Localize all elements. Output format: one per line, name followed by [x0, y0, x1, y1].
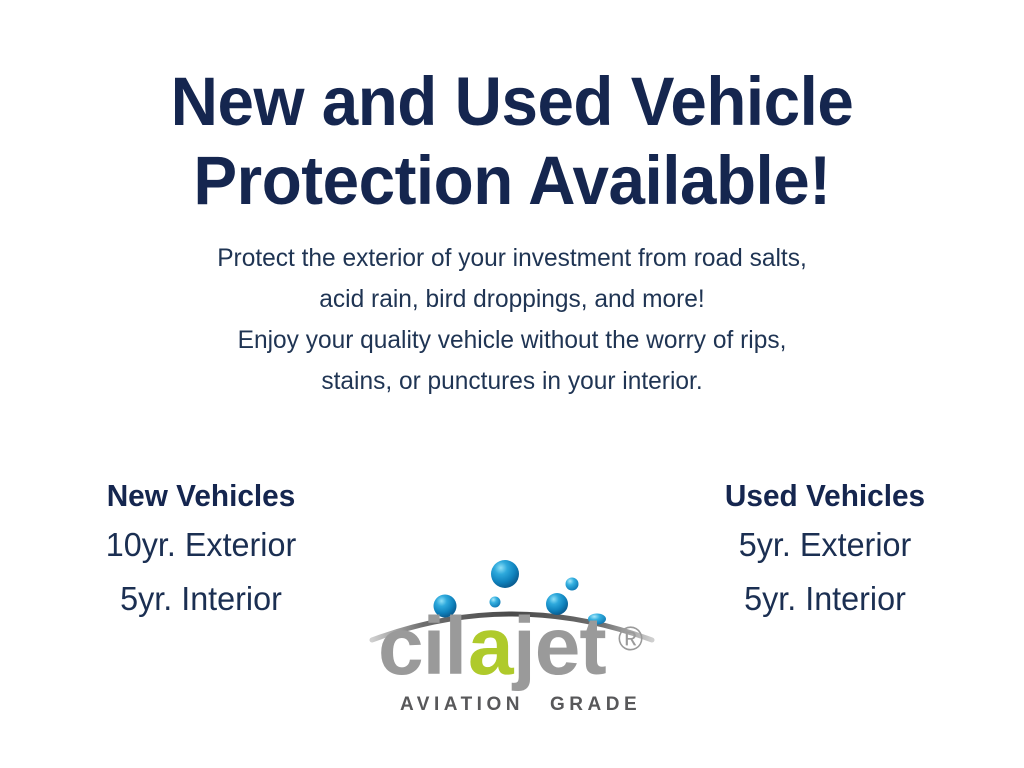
new-exterior-coverage: 10yr. Exterior — [39, 518, 362, 572]
logo-wordmark: cil a jet ® — [378, 601, 643, 692]
title-line-1: New and Used Vehicle — [26, 62, 999, 141]
registered-trademark-icon: ® — [618, 620, 643, 658]
body-copy: Protect the exterior of your investment … — [0, 238, 1024, 402]
logo-text-jet: jet — [511, 601, 606, 692]
column-heading-used: Used Vehicles — [667, 474, 984, 518]
new-interior-coverage: 5yr. Interior — [39, 572, 362, 626]
title-line-2: Protection Available! — [26, 141, 999, 220]
column-used-vehicles: Used Vehicles 5yr. Exterior 5yr. Interio… — [660, 474, 990, 626]
tagline-aviation: AVIATION — [400, 694, 524, 715]
page-title: New and Used Vehicle Protection Availabl… — [0, 62, 1024, 220]
column-new-vehicles: New Vehicles 10yr. Exterior 5yr. Interio… — [36, 474, 366, 626]
logo-tagline: AVIATION GRADE — [400, 694, 641, 715]
logo-text-cil: cil — [378, 601, 466, 692]
slide-canvas: New and Used Vehicle Protection Availabl… — [0, 0, 1024, 768]
tagline-grade: GRADE — [550, 694, 641, 715]
body-line-4: stains, or punctures in your interior. — [10, 361, 1014, 402]
body-line-2: acid rain, bird droppings, and more! — [10, 279, 1014, 320]
body-line-3: Enjoy your quality vehicle without the w… — [10, 320, 1014, 361]
used-interior-coverage: 5yr. Interior — [663, 572, 986, 626]
cilajet-logo: cil a jet ® AVIATION GRADE — [366, 552, 658, 728]
used-exterior-coverage: 5yr. Exterior — [663, 518, 986, 572]
logo-text-a: a — [468, 601, 515, 692]
body-line-1: Protect the exterior of your investment … — [10, 238, 1014, 279]
column-heading-new: New Vehicles — [43, 474, 360, 518]
